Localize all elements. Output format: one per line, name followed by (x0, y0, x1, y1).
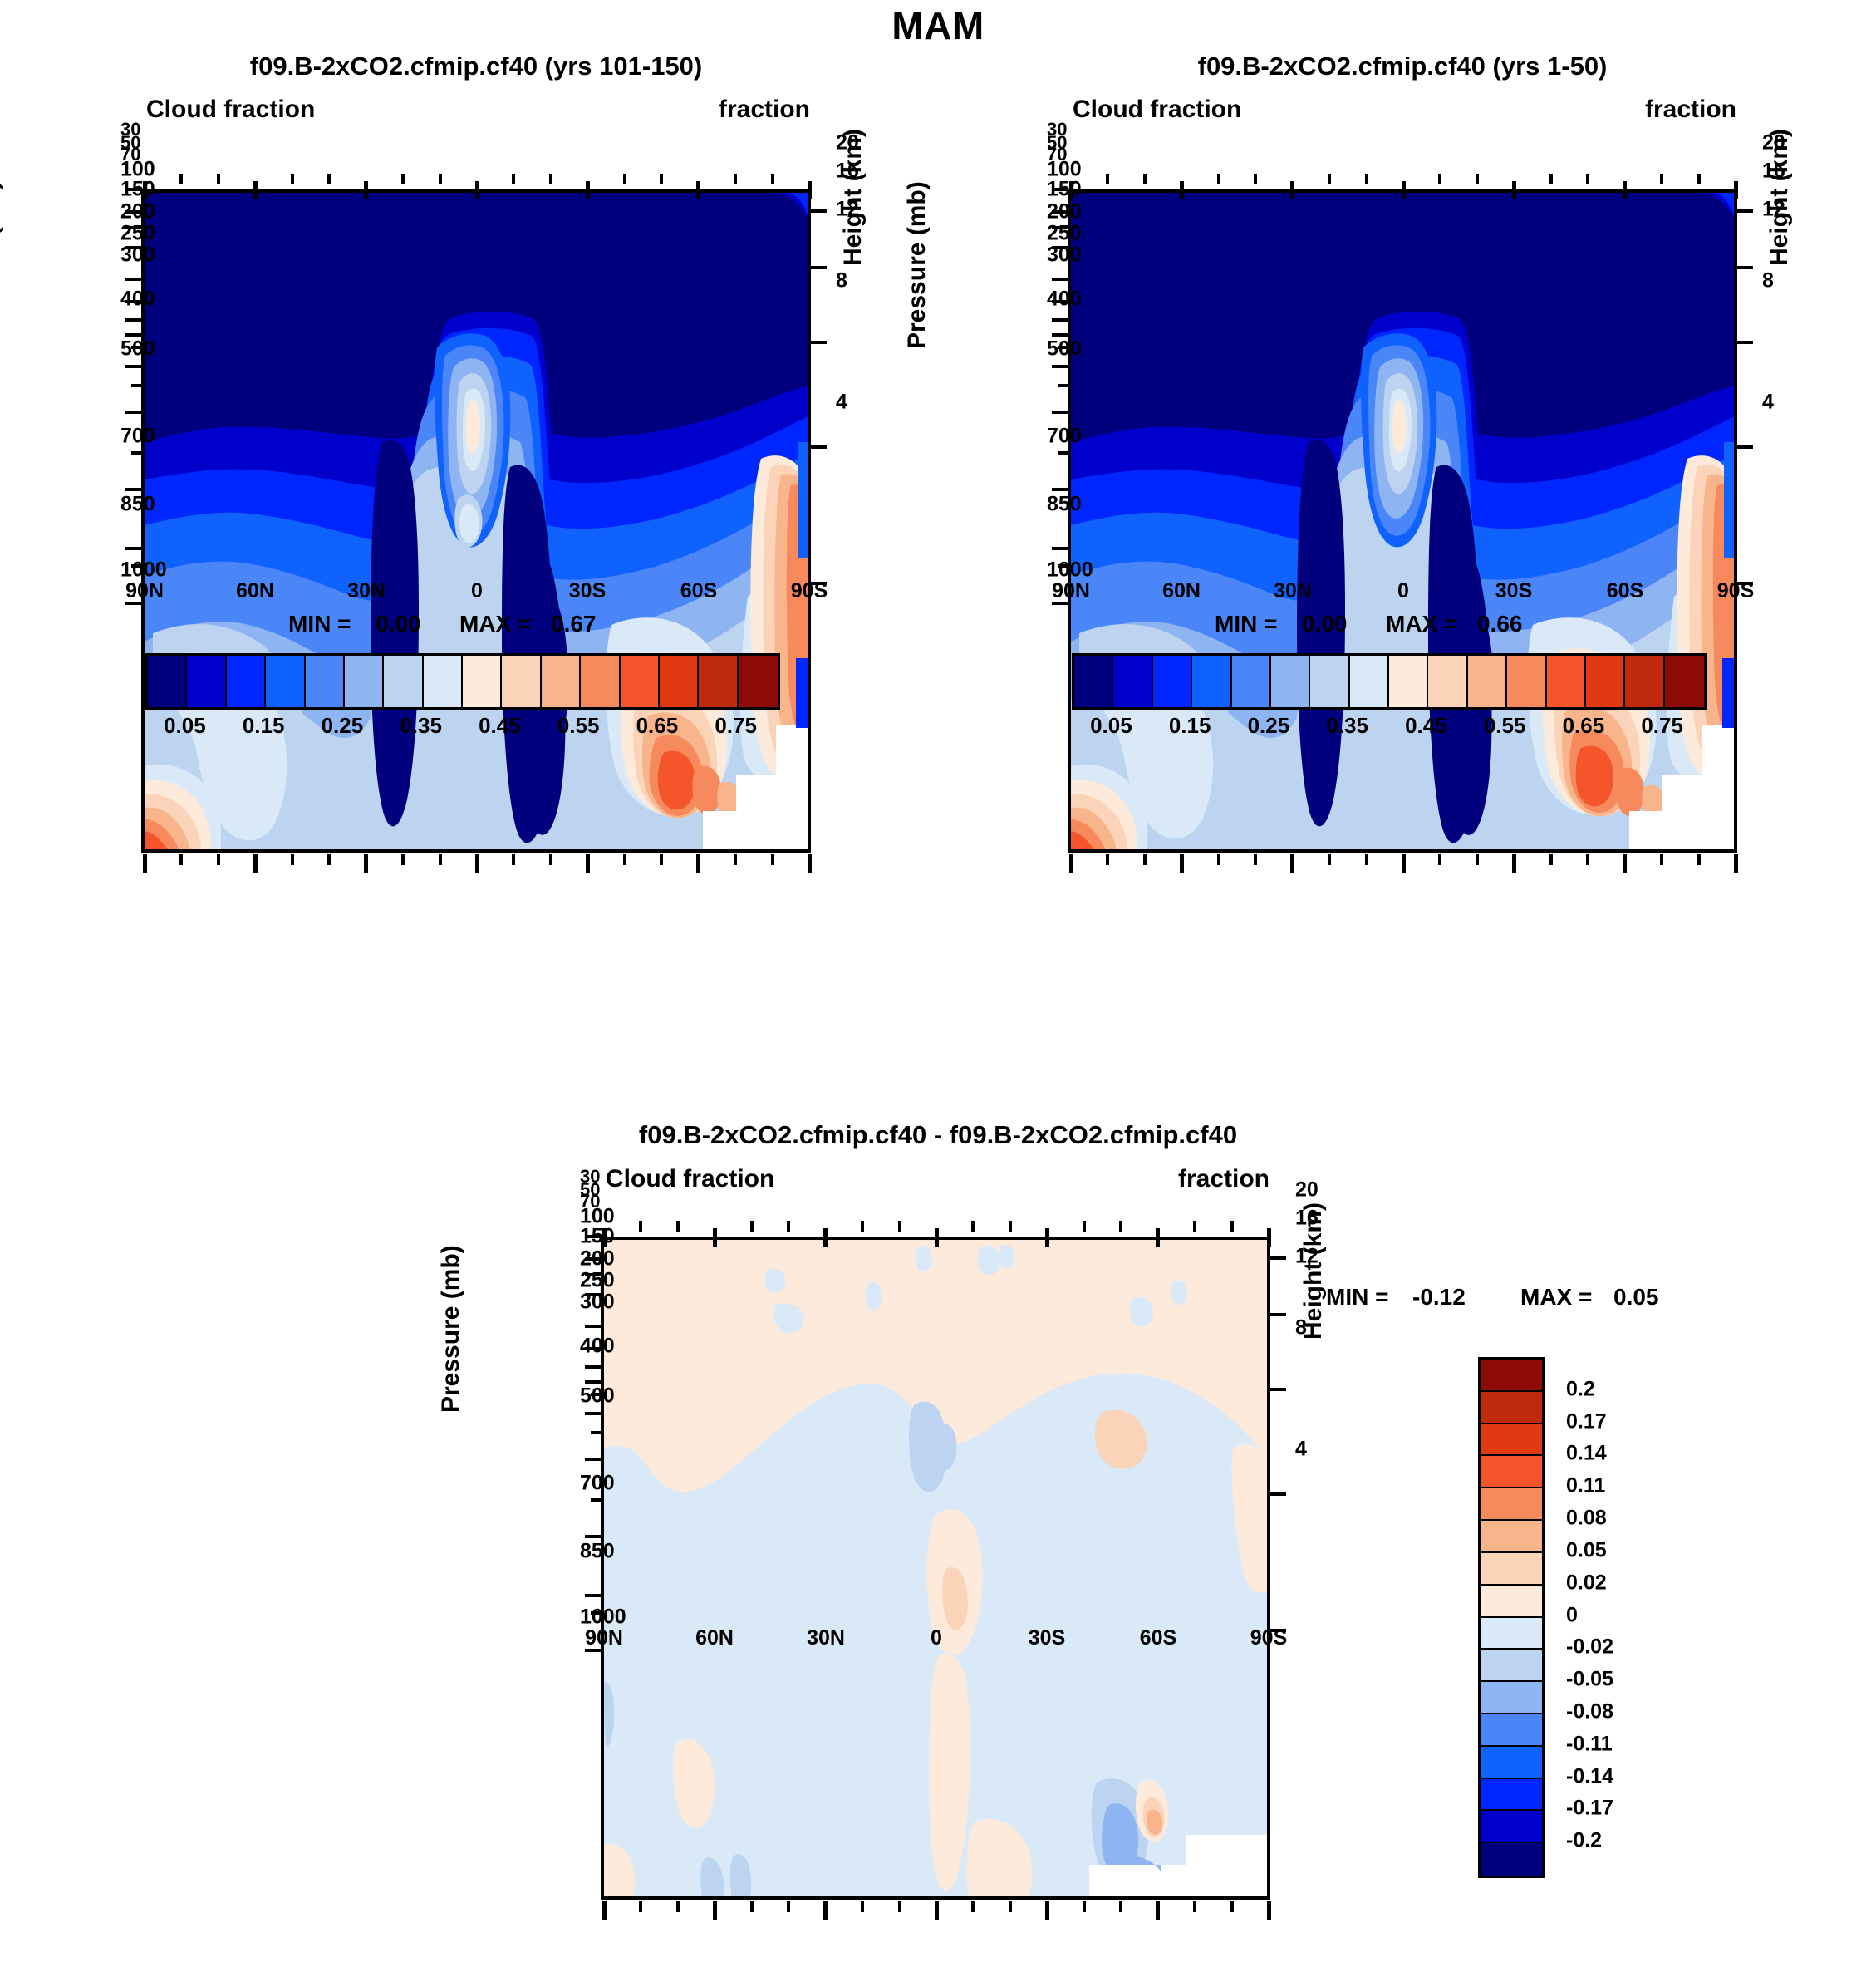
panel1-pressure-axis-title: Pressure (mb) (0, 181, 5, 349)
colorbar-segment-12 (621, 656, 660, 707)
legend-segment-1 (1481, 1392, 1542, 1424)
colorbar-ticklabel-0.35: 0.35 (400, 713, 442, 739)
xtick-top--30 (1045, 1228, 1049, 1247)
legend-segment-8 (1481, 1618, 1542, 1650)
xtick-top--40 (1083, 1221, 1086, 1232)
xtick--10 (512, 854, 515, 865)
xtick-top-50 (1217, 174, 1220, 184)
xtick--70 (1660, 854, 1663, 865)
panel2-hlabel-12: 12 (1762, 198, 1785, 222)
panel2-xlabel-90S: 90S (1717, 579, 1754, 603)
panel3-height-axis-title-wrap: Height (km) (1328, 1340, 1356, 1477)
xtick-top-40 (787, 1221, 790, 1232)
panel2-hlabel-20: 20 (1762, 131, 1785, 155)
panel2-ytick-500 (1052, 411, 1068, 414)
legend-segment-12 (1481, 1747, 1542, 1779)
xtick--50 (660, 854, 663, 865)
panel1-ytick-500 (125, 411, 141, 414)
legend-ticklabel-6: 0.02 (1566, 1571, 1607, 1595)
xtick-top-20 (861, 1221, 864, 1232)
xtick-90 (602, 1901, 607, 1920)
panel3-ytick-850 (585, 1594, 601, 1597)
panel2-max-value: 0.66 (1477, 611, 1523, 637)
colorbar-ticklabel-0.45: 0.45 (1405, 713, 1447, 739)
colorbar-segment-12 (1547, 656, 1586, 707)
legend-ticklabel-12: -0.14 (1566, 1764, 1613, 1788)
colorbar-segment-6 (384, 656, 423, 707)
panel3-pressure-axis-title: Pressure (mb) (437, 1245, 465, 1413)
panel1-ytick-600 (131, 451, 141, 455)
panel3-ytick-150 (585, 1325, 601, 1328)
panel2-htick-12 (1737, 341, 1753, 344)
colorbar-segment-8 (463, 656, 502, 707)
xtick-top--80 (1697, 174, 1701, 184)
xtick-top-90 (602, 1228, 607, 1247)
panel3-hlabel-8: 8 (1295, 1316, 1307, 1340)
colorbar-ticklabel-0.05: 0.05 (1090, 713, 1132, 739)
panel1-colorbar (145, 653, 780, 710)
xtick--60 (696, 854, 700, 873)
legend-segment-5 (1481, 1521, 1542, 1553)
panel3-ylabel-150: 150 (580, 1225, 615, 1249)
colorbar-segment-9 (1428, 656, 1467, 707)
colorbar-segment-11 (581, 656, 620, 707)
legend-ticklabel-13: -0.17 (1566, 1797, 1613, 1821)
xtick--40 (1549, 854, 1553, 865)
panel3-hlabel-12: 12 (1295, 1245, 1319, 1269)
panel2-field-label-left: Cloud fraction (1073, 96, 1241, 124)
xtick-top-70 (676, 1221, 680, 1232)
panel2-ytick-850 (1052, 547, 1068, 550)
colorbar-segment-14 (699, 656, 738, 707)
colorbar-ticklabel-0.25: 0.25 (322, 713, 364, 739)
xtick--80 (1230, 1901, 1234, 1912)
panel2-ylabel-700: 700 (1047, 425, 1082, 449)
xtick--90 (808, 854, 812, 873)
xtick-top-80 (1106, 174, 1109, 184)
colorbar-ticklabel-0.55: 0.55 (557, 713, 600, 739)
legend-ticklabel-1: 0.17 (1566, 1409, 1607, 1433)
xtick-top--10 (971, 1221, 975, 1232)
xtick-80 (179, 854, 183, 865)
xtick--40 (1083, 1901, 1086, 1912)
legend-ticklabel-4: 0.08 (1566, 1507, 1607, 1531)
panel1-xlabel-90N: 90N (125, 579, 164, 603)
colorbar-segment-6 (1310, 656, 1349, 707)
xtick-10 (1365, 854, 1368, 865)
xtick-30 (823, 1901, 828, 1920)
colorbar-segment-3 (1192, 656, 1231, 707)
colorbar-segment-2 (1153, 656, 1192, 707)
xtick-top-40 (327, 174, 331, 184)
panel2-title: f09.B-2xCO2.cfmip.cf40 (yrs 1-50) (1198, 52, 1608, 81)
xtick-top--10 (512, 174, 515, 184)
panel3-ylabel-250: 250 (580, 1269, 615, 1293)
colorbar-segment-4 (1232, 656, 1271, 707)
xtick-top-30 (823, 1228, 828, 1247)
panel3-xlabel-0: 0 (931, 1626, 942, 1650)
legend-segment-2 (1481, 1424, 1542, 1457)
panel3-field-label-left: Cloud fraction (606, 1165, 774, 1193)
legend-ticklabel-5: 0.05 (1566, 1538, 1607, 1562)
xtick-top--30 (586, 181, 590, 199)
xtick-top--60 (1156, 1228, 1160, 1247)
xtick-top-80 (639, 1221, 642, 1232)
xtick-top--10 (1438, 174, 1441, 184)
legend-ticklabel-3: 0.11 (1566, 1474, 1605, 1498)
panel1-max-label: MAX = (459, 611, 531, 637)
xtick-top-90 (143, 181, 147, 199)
xtick--90 (1267, 1901, 1271, 1920)
panel2-xlabel-30S: 30S (1495, 579, 1532, 603)
xtick-top-30 (364, 181, 368, 199)
xtick-40 (1254, 854, 1257, 865)
panel2-xlabel-60S: 60S (1607, 579, 1643, 603)
xtick-0 (1402, 854, 1406, 873)
panel2-ytick-450 (1058, 384, 1068, 387)
panel2-ylabel-850: 850 (1047, 493, 1082, 517)
xtick--40 (623, 854, 626, 865)
panel1-ylabel-850: 850 (120, 493, 155, 517)
panel3-xlabel-60S: 60S (1140, 1626, 1176, 1650)
panel1-htick-20 (811, 209, 827, 213)
xtick-top-0 (475, 181, 479, 199)
xtick-top--50 (1119, 1221, 1122, 1232)
panel2-ytick-600 (1058, 451, 1068, 455)
panel2-contour-field (1071, 193, 1736, 851)
panel3-htick-12 (1270, 1388, 1286, 1391)
xtick--10 (1438, 854, 1441, 865)
panel3-xlabel-90N: 90N (585, 1626, 623, 1650)
panel1-hlabel-16: 16 (836, 160, 859, 184)
panel1-title: f09.B-2xCO2.cfmip.cf40 (yrs 101-150) (250, 52, 702, 81)
panel1-height-axis-title-wrap: Height (km) (867, 266, 896, 403)
xtick-top--20 (549, 174, 552, 184)
xtick-top-20 (1328, 174, 1331, 184)
colorbar-ticklabel-0.25: 0.25 (1248, 713, 1290, 739)
colorbar-segment-2 (227, 656, 266, 707)
panel2-ytick-300 (1052, 333, 1068, 337)
legend-ticklabel-0: 0.2 (1566, 1377, 1595, 1401)
colorbar-segment-13 (660, 656, 699, 707)
xtick-50 (1217, 854, 1220, 865)
panel3-xlabel-60N: 60N (695, 1626, 734, 1650)
panel2-ytick-400 (1052, 365, 1068, 368)
panel2-htick-8 (1737, 445, 1753, 449)
xtick-top--90 (1734, 181, 1738, 199)
xtick-top-60 (253, 181, 258, 199)
xtick-top-90 (1069, 181, 1073, 199)
xtick-top--80 (1230, 1221, 1234, 1232)
xtick-top-10 (898, 1221, 901, 1232)
panel2-ytick-700 (1052, 488, 1068, 491)
panel3-xlabel-30S: 30S (1029, 1626, 1065, 1650)
legend-segment-7 (1481, 1586, 1542, 1618)
panel3-htick-16 (1270, 1313, 1286, 1316)
xtick--90 (1734, 854, 1738, 873)
xtick-top--80 (771, 174, 774, 184)
xtick-top--90 (808, 181, 812, 199)
colorbar-ticklabel-0.05: 0.05 (164, 713, 206, 739)
panel1-ylabel-500: 500 (120, 337, 155, 361)
panel2-min-value: 0.00 (1302, 611, 1348, 637)
xtick--50 (1119, 1901, 1122, 1912)
xtick--20 (1009, 1901, 1012, 1912)
xtick-40 (787, 1901, 790, 1912)
panel3-xlabel-30N: 30N (807, 1626, 845, 1650)
panel3-ylabel-400: 400 (580, 1335, 615, 1359)
colorbar-segment-15 (1665, 656, 1704, 707)
xtick-60 (1180, 854, 1184, 873)
xtick-top-70 (1143, 174, 1147, 184)
colorbar-ticklabel-0.75: 0.75 (715, 713, 757, 739)
colorbar-segment-1 (1113, 656, 1152, 707)
panel1-ytick-150 (125, 278, 141, 281)
panel1-hlabel-12: 12 (836, 198, 859, 222)
colorbar-segment-10 (542, 656, 581, 707)
panel3-ylabel-700: 700 (580, 1472, 615, 1496)
panel1-xlabel-60N: 60N (236, 579, 274, 603)
legend-ticklabel-14: -0.2 (1566, 1829, 1602, 1853)
colorbar-segment-11 (1507, 656, 1546, 707)
panel3-max-value: 0.05 (1613, 1284, 1659, 1311)
panel3-ytick-600 (591, 1498, 601, 1502)
panel2-ylabel-300: 300 (1047, 243, 1082, 268)
colorbar-ticklabel-0.15: 0.15 (243, 713, 285, 739)
panel3-ytick-500 (585, 1458, 601, 1461)
xtick-70 (676, 1901, 680, 1912)
panel1-ytick-450 (131, 384, 141, 387)
xtick-top-60 (1180, 181, 1184, 199)
colorbar-segment-9 (502, 656, 541, 707)
panel3-xlabel-90S: 90S (1250, 1626, 1287, 1650)
colorbar-ticklabel-0.55: 0.55 (1484, 713, 1526, 739)
xtick-20 (1328, 854, 1331, 865)
panel3-field-label-right: fraction (1178, 1165, 1269, 1193)
xtick-30 (1290, 854, 1294, 873)
xtick--30 (1045, 1901, 1049, 1920)
xtick-50 (750, 1901, 754, 1912)
panel3-pressure-axis-title-wrap: Pressure (mb) (465, 1413, 494, 1581)
figure-suptitle: MAM (891, 3, 984, 48)
colorbar-segment-4 (306, 656, 345, 707)
colorbar-ticklabel-0.65: 0.65 (636, 713, 679, 739)
xtick--70 (734, 854, 737, 865)
panel1-pressure-axis-title-wrap: Pressure (mb) (5, 349, 33, 517)
xtick-top-60 (713, 1228, 717, 1247)
xtick-30 (364, 854, 368, 873)
colorbar-segment-14 (1625, 656, 1664, 707)
panel2-ylabel-400: 400 (1047, 288, 1082, 312)
panel1-contour-field (145, 193, 809, 851)
panel1-htick-12 (811, 341, 827, 344)
panel2-htick-16 (1737, 266, 1753, 269)
panel2-plot-area (1068, 189, 1737, 853)
xtick--20 (549, 854, 552, 865)
panel3-ytick-450 (591, 1431, 601, 1434)
colorbar-segment-15 (739, 656, 778, 707)
panel1-ylabel-400: 400 (120, 288, 155, 312)
panel2-ylabel-150: 150 (1047, 178, 1082, 202)
panel3-min-label: MIN = (1326, 1284, 1388, 1311)
panel2-ylabel-250: 250 (1047, 222, 1082, 246)
xtick-60 (253, 854, 258, 873)
panel1-max-value: 0.67 (551, 611, 597, 637)
panel2-hlabel-8: 8 (1762, 269, 1774, 293)
panel1-hlabel-20: 20 (836, 131, 859, 155)
panel1-min-label: MIN = (288, 611, 351, 637)
xtick-top-50 (750, 1221, 754, 1232)
panel3-ylabel-200: 200 (580, 1247, 615, 1271)
panel3-title: f09.B-2xCO2.cfmip.cf40 - f09.B-2xCO2.cfm… (639, 1120, 1237, 1150)
panel2-hlabel-16: 16 (1762, 160, 1785, 184)
panel3-ylabel-850: 850 (580, 1540, 615, 1564)
panel1-ytick-850 (125, 547, 141, 550)
panel1-field-label-left: Cloud fraction (146, 96, 315, 124)
panel3-htick-20 (1270, 1256, 1286, 1260)
panel2-pressure-axis-title: Pressure (mb) (903, 181, 931, 349)
legend-ticklabel-9: -0.05 (1566, 1668, 1613, 1692)
xtick-top--50 (1586, 174, 1589, 184)
panel3-max-label: MAX = (1520, 1284, 1592, 1311)
colorbar-ticklabel-0.35: 0.35 (1326, 713, 1368, 739)
colorbar-ticklabel-0.45: 0.45 (479, 713, 521, 739)
xtick-20 (401, 854, 405, 865)
panel2-min-label: MIN = (1215, 611, 1277, 637)
xtick-70 (1143, 854, 1147, 865)
xtick-top--50 (660, 174, 663, 184)
panel2-ylabel-200: 200 (1047, 200, 1082, 224)
panel2-pressure-axis-title-wrap: Pressure (mb) (931, 349, 960, 517)
xtick--70 (1193, 1901, 1196, 1912)
panel1-ytick-250 (125, 318, 141, 322)
legend-segment-0 (1481, 1360, 1542, 1392)
panel1-ylabel-200: 200 (120, 200, 155, 224)
panel1-xlabel-60S: 60S (680, 579, 717, 603)
panel2-hlabel-4: 4 (1762, 391, 1774, 415)
panel2-htick-20 (1737, 209, 1753, 213)
panel2-ytick-250 (1052, 318, 1068, 322)
xtick-80 (1106, 854, 1109, 865)
colorbar-ticklabel-0.75: 0.75 (1641, 713, 1683, 739)
xtick--80 (1697, 854, 1701, 865)
legend-ticklabel-2: 0.14 (1566, 1442, 1607, 1466)
panel3-legend-colorbar (1478, 1357, 1545, 1878)
panel1-min-value: 0.00 (376, 611, 421, 637)
panel3-htick-8 (1270, 1492, 1286, 1496)
colorbar-segment-7 (424, 656, 463, 707)
panel1-ytick-300 (125, 333, 141, 337)
xtick-top-10 (1365, 174, 1368, 184)
panel1-htick-16 (811, 266, 827, 269)
xtick-top--40 (623, 174, 626, 184)
panel3-plot-area (601, 1237, 1270, 1900)
xtick-90 (143, 854, 147, 873)
xtick-top--70 (1660, 174, 1663, 184)
xtick-top--60 (696, 181, 700, 199)
panel2-field-label-right: fraction (1645, 96, 1736, 124)
panel3-ytick-300 (585, 1380, 601, 1384)
colorbar-ticklabel-0.15: 0.15 (1169, 713, 1211, 739)
xtick--80 (771, 854, 774, 865)
panel2-xlabel-0: 0 (1397, 579, 1409, 603)
panel2-max-label: MAX = (1386, 611, 1457, 637)
panel1-hlabel-8: 8 (836, 269, 847, 293)
xtick-10 (439, 854, 442, 865)
panel3-ylabel-500: 500 (580, 1384, 615, 1409)
panel2-xlabel-60N: 60N (1162, 579, 1201, 603)
xtick-50 (291, 854, 294, 865)
xtick-20 (861, 1901, 864, 1912)
colorbar-segment-0 (1074, 656, 1113, 707)
xtick-top-50 (291, 174, 294, 184)
xtick--30 (1512, 854, 1516, 873)
colorbar-segment-5 (345, 656, 384, 707)
panel1-xlabel-30S: 30S (569, 579, 606, 603)
panel2-colorbar (1072, 653, 1707, 710)
colorbar-segment-8 (1389, 656, 1428, 707)
panel1-ylabel-700: 700 (120, 425, 155, 449)
xtick--10 (971, 1901, 975, 1912)
xtick-60 (713, 1901, 717, 1920)
panel1-ytick-400 (125, 365, 141, 368)
panel1-plot-area (141, 189, 811, 853)
colorbar-segment-7 (1350, 656, 1389, 707)
panel1-xlabel-30N: 30N (347, 579, 386, 603)
xtick-top-0 (1402, 181, 1406, 199)
xtick-70 (217, 854, 220, 865)
panel3-contour-field (604, 1240, 1269, 1898)
figure-canvas: MAM f09.B-2xCO2.cfmip.cf40 (yrs 101-150)… (0, 0, 1876, 1967)
xtick-top-20 (401, 174, 405, 184)
panel2-xlabel-90N: 90N (1052, 579, 1090, 603)
xtick--60 (1623, 854, 1627, 873)
xtick-0 (935, 1901, 939, 1920)
panel1-hlabel-4: 4 (836, 391, 847, 415)
panel1-xlabel-0: 0 (471, 579, 483, 603)
xtick-top--20 (1009, 1221, 1012, 1232)
panel2-ytick-150 (1052, 278, 1068, 281)
panel1-htick-8 (811, 445, 827, 449)
xtick--20 (1476, 854, 1479, 865)
colorbar-segment-10 (1468, 656, 1507, 707)
legend-segment-15 (1481, 1843, 1542, 1876)
xtick-top--30 (1512, 181, 1516, 199)
xtick-top--70 (1193, 1221, 1196, 1232)
panel3-ytick-700 (585, 1535, 601, 1538)
panel2-ylabel-500: 500 (1047, 337, 1082, 361)
legend-ticklabel-8: -0.02 (1566, 1635, 1613, 1660)
panel3-hlabel-20: 20 (1295, 1178, 1319, 1202)
xtick-top--40 (1549, 174, 1553, 184)
colorbar-segment-1 (187, 656, 226, 707)
xtick--50 (1586, 854, 1589, 865)
panel1-xlabel-90S: 90S (791, 579, 828, 603)
legend-ticklabel-7: 0 (1566, 1603, 1578, 1627)
xtick-80 (639, 1901, 642, 1912)
panel2-xlabel-30N: 30N (1274, 579, 1312, 603)
xtick--30 (586, 854, 590, 873)
xtick--60 (1156, 1901, 1160, 1920)
legend-segment-13 (1481, 1779, 1542, 1812)
colorbar-segment-13 (1586, 656, 1625, 707)
legend-segment-4 (1481, 1488, 1542, 1521)
panel3-hlabel-4: 4 (1295, 1438, 1307, 1462)
colorbar-segment-3 (266, 656, 305, 707)
panel1-ytick-700 (125, 488, 141, 491)
xtick-10 (898, 1901, 901, 1912)
xtick-top--70 (734, 174, 737, 184)
